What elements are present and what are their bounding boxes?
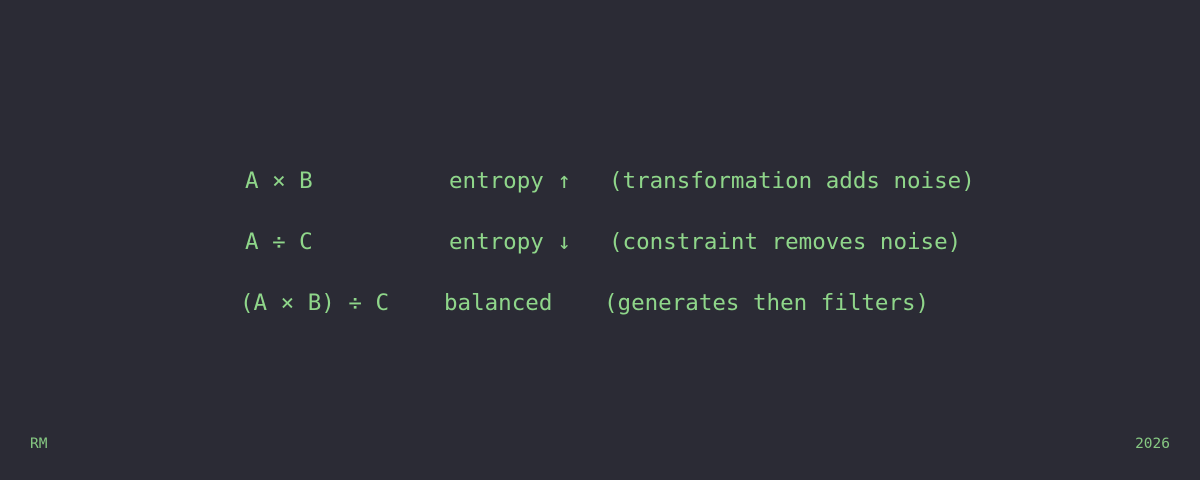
row-effect: entropy ↑ [447,160,609,202]
footer-initials: RM [30,434,47,454]
slide-footer: RM 2026 [0,434,1200,454]
table-row: (A × B) ÷ C balanced (generates then fil… [240,282,975,343]
table-row: A × B entropy ↑ (transformation adds noi… [240,160,975,221]
table-row: A ÷ C entropy ↓ (constraint removes nois… [240,221,975,282]
row-effect: balanced [442,282,604,324]
row-expression: (A × B) ÷ C [240,282,442,324]
row-note: (generates then filters) [604,282,929,324]
row-expression: A × B [245,160,447,202]
row-note: (constraint removes noise) [609,221,961,263]
row-effect: entropy ↓ [447,221,609,263]
slide-canvas: A × B entropy ↑ (transformation adds noi… [0,0,1200,480]
footer-year: 2026 [1135,434,1170,454]
operator-entropy-table: A × B entropy ↑ (transformation adds noi… [240,160,975,343]
row-expression: A ÷ C [245,221,447,263]
row-note: (transformation adds noise) [609,160,975,202]
